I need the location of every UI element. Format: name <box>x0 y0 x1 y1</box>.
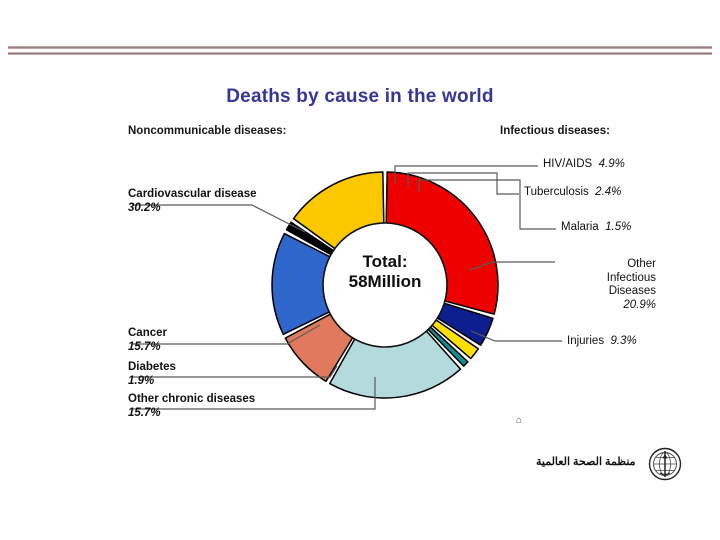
label-name-line1: Other <box>560 258 656 272</box>
label-percent: 1.5% <box>605 221 631 233</box>
label-percent: 1.9% <box>128 375 176 389</box>
label-name: Other chronic diseases <box>128 393 255 407</box>
label-name-line3: Diseases <box>560 285 656 299</box>
label-percent: 20.9% <box>560 299 656 313</box>
label-name: Tuberculosis <box>524 186 589 198</box>
label-other-chronic-diseases: Other chronic diseases 15.7% <box>128 393 255 420</box>
label-malaria: Malaria 1.5% <box>561 221 631 235</box>
slide-canvas: Deaths by cause in the world Noncommunic… <box>0 0 720 540</box>
label-name: Injuries <box>567 335 604 347</box>
label-name: Malaria <box>561 221 599 233</box>
label-cardiovascular-disease: Cardiovascular disease 30.2% <box>128 188 257 215</box>
label-cancer: Cancer 15.7% <box>128 327 167 354</box>
label-injuries: Injuries 9.3% <box>567 335 637 349</box>
label-name: Cardiovascular disease <box>128 188 257 202</box>
label-other-infectious-diseases: Other Infectious Diseases 20.9% <box>560 258 656 312</box>
label-name: Cancer <box>128 327 167 341</box>
leader-other-infectious <box>470 262 555 270</box>
label-percent: 2.4% <box>595 186 621 198</box>
label-percent: 15.7% <box>128 407 255 421</box>
label-tuberculosis: Tuberculosis 2.4% <box>524 186 621 200</box>
scan-artifact: ⌂ <box>516 415 521 426</box>
label-diabetes: Diabetes 1.9% <box>128 361 176 388</box>
label-name: HIV/AIDS <box>543 158 592 170</box>
label-percent: 4.9% <box>599 158 625 170</box>
who-arabic-name: منظمة الصحة العالمية <box>536 455 636 468</box>
label-percent: 15.7% <box>128 341 167 355</box>
who-emblem-icon <box>648 447 682 481</box>
label-percent: 30.2% <box>128 202 257 216</box>
label-name: Diabetes <box>128 361 176 375</box>
leader-injuries <box>471 331 562 341</box>
label-name-line2: Infectious <box>560 272 656 286</box>
label-percent: 9.3% <box>610 335 636 347</box>
label-hiv-aids: HIV/AIDS 4.9% <box>543 158 625 172</box>
leader-tb <box>408 173 519 194</box>
